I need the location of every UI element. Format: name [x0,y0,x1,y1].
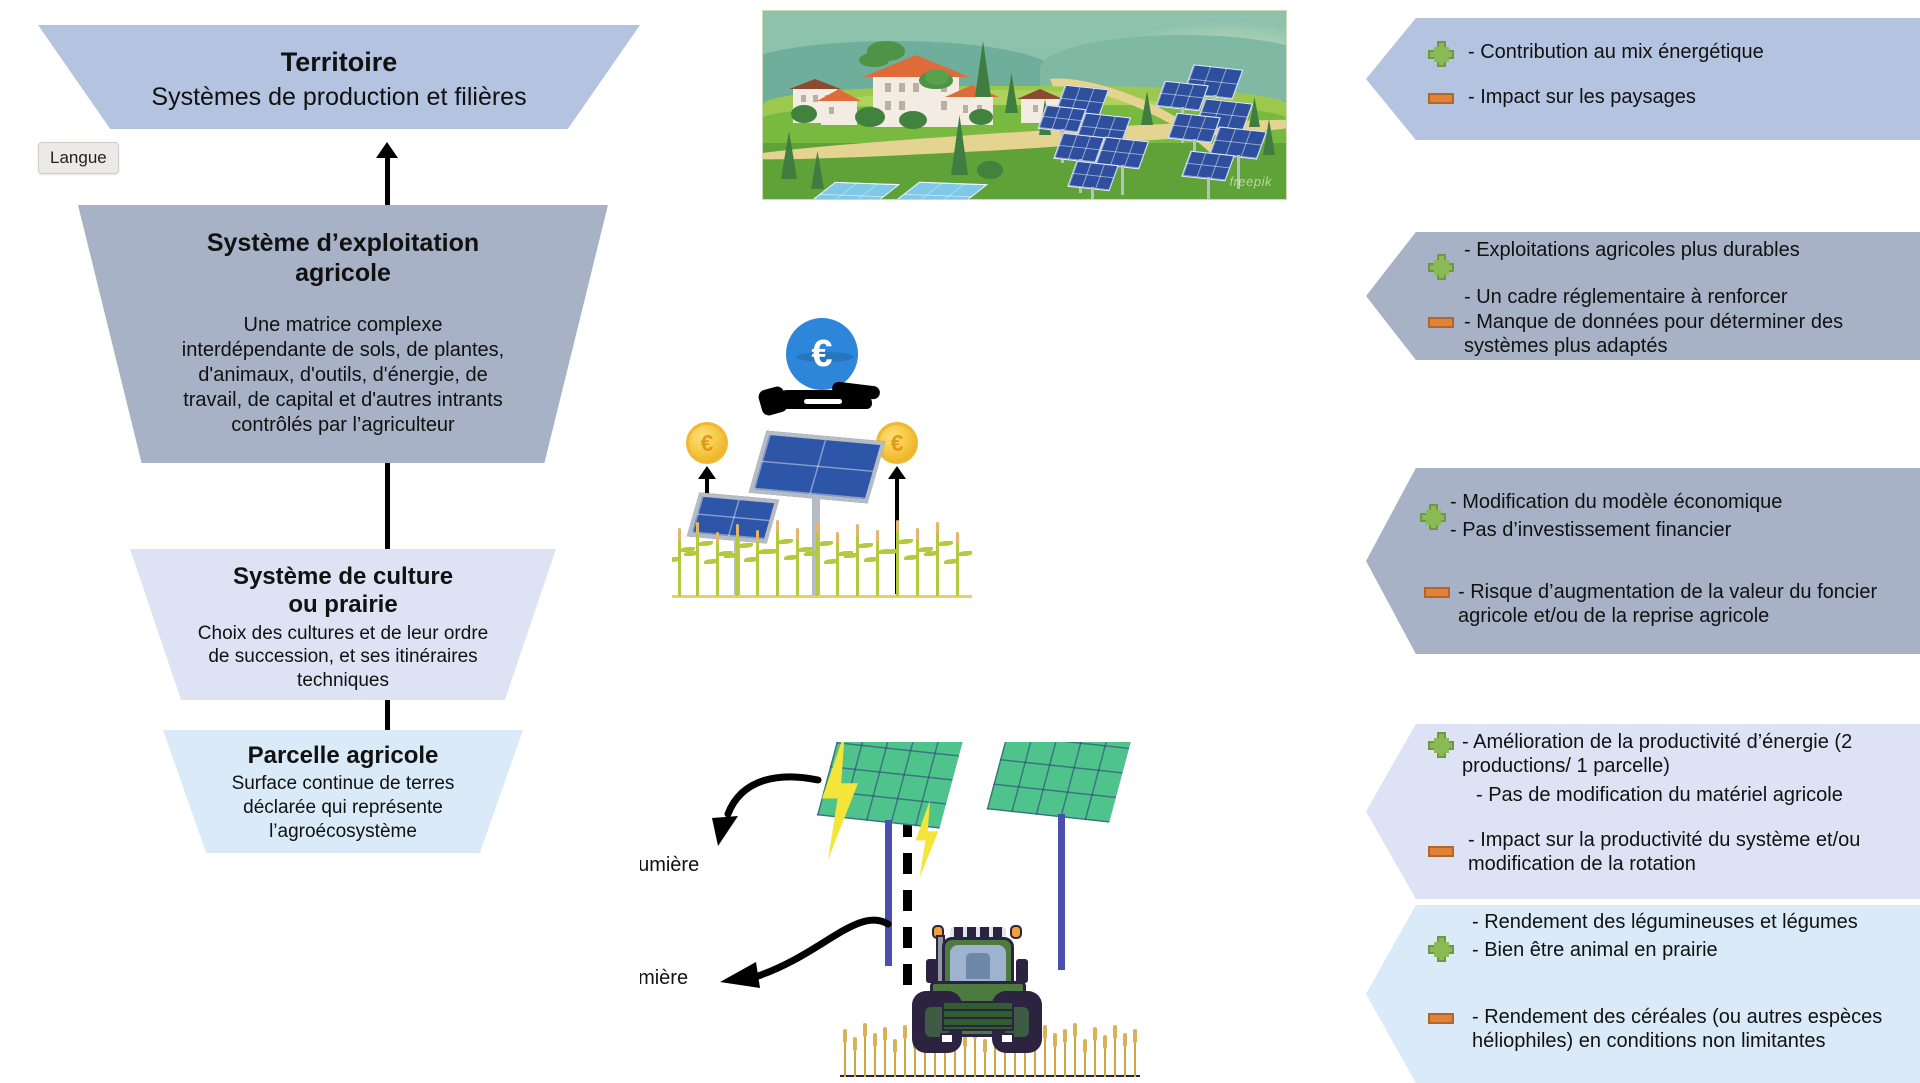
plus-icon [1428,936,1454,962]
euro-coin-gold-left-icon: € [686,422,728,464]
impact-negative-row-2b: - Manque de données pour déterminer des … [1428,310,1920,359]
impact-negative-row-5: - Rendement des céréales (ou autres espè… [1428,1005,1920,1054]
funnel-level-title: Parcelle agricole [248,742,439,770]
impact-negative-row-4: - Impact sur la productivité du système … [1428,828,1920,877]
impact-positive-text: - Amélioration de la productivité d’éner… [1462,730,1902,779]
label-100-percent-light: 100% de la lumière [640,854,699,877]
impact-positive-row-5: - Rendement des légumineuses et légumes … [1428,910,1920,963]
hand-icon [760,380,886,420]
impact-negative-row-1: - Impact sur les paysages [1428,85,1920,109]
maize-field [672,516,972,598]
impact-negative-text: - Un cadre réglementaire à renforcer [1464,285,1787,309]
plus-icon [1428,254,1454,280]
impact-negative-text: - Manque de données pour déterminer des … [1464,310,1920,359]
minus-icon [1428,1013,1454,1024]
impact-positive-row-3: - Modification du modèle économique - Pa… [1420,490,1920,543]
minus-icon [1424,587,1450,598]
plus-icon [1420,504,1446,530]
funnel-level-title: Territoire [281,47,398,79]
impact-positive-row-2: - Exploitations agricoles plus durables [1428,238,1920,280]
euro-solar-maize-illustration: € € € [672,318,972,598]
impact-positive-row-1: - Contribution au mix énergétique [1428,40,1920,67]
impact-positive-text: - Exploitations agricoles plus durables [1464,238,1800,262]
solar-panel-large [749,431,886,504]
impact-negative-text: - Rendement des céréales (ou autres espè… [1472,1005,1892,1054]
funnel-level-territoire: Territoire Systèmes de production et fil… [38,25,640,129]
funnel-level-description: Une matrice complexe interdépendante de … [171,313,515,438]
minus-icon [1428,317,1454,328]
minus-icon [1428,93,1454,104]
impact-positive-text: - Contribution au mix énergétique [1468,40,1764,64]
label-70-percent-light: 70% de la lumière [640,967,688,990]
impact-positive-text: - Modification du modèle économique [1450,490,1782,514]
agrivoltaic-tractor-illustration: 100% de la lumière 70% de la lumière [640,742,1140,1083]
funnel-level-title-line2: agricole [295,259,391,289]
impact-negative-row-2a: - Un cadre réglementaire à renforcer [1464,285,1920,309]
funnel-level-description: Choix des cultures et de leur ordre de s… [193,622,493,693]
plus-icon [1428,41,1454,67]
green-solar-panel-right [987,742,1136,823]
tractor-illustration [908,919,1046,1071]
impact-negative-row-3: - Risque d’augmentation de la valeur du … [1424,580,1920,629]
minus-icon [1428,846,1454,857]
funnel-level-description: Surface continue de terres déclarée qui … [207,772,479,843]
funnel-level-systeme-culture: Système de culture ou prairie Choix des … [130,549,556,700]
rural-landscape-illustration: freepik [762,10,1287,200]
impact-positive-text: - Pas d’investissement financier [1450,518,1782,542]
connector-line-3 [385,700,390,732]
funnel-level-parcelle: Parcelle agricole Surface continue de te… [163,730,523,853]
impact-negative-text: - Impact sur la productivité du système … [1468,828,1908,877]
impact-negative-text: - Risque d’augmentation de la valeur du … [1458,580,1908,629]
funnel-level-subtitle: Systèmes de production et filières [151,82,526,113]
impact-positive-row-4: - Amélioration de la productivité d’éner… [1428,730,1920,807]
green-solar-post-right [1058,814,1065,970]
plus-icon [1428,732,1454,758]
connector-arrowhead-1 [376,142,398,158]
connector-line-2 [385,463,390,553]
impact-negative-text: - Impact sur les paysages [1468,85,1696,109]
funnel-level-title-line2: ou prairie [288,591,397,619]
langue-button[interactable]: Langue [38,142,119,174]
watermark-freepik: freepik [1229,174,1272,189]
impact-positive-text: - Bien être animal en prairie [1472,938,1892,962]
light-arrow-70-percent [640,884,930,1014]
impact-positive-text: - Pas de modification du matériel agrico… [1476,783,1902,807]
funnel-level-title: Système de culture [233,563,453,591]
impact-box-territoire [1366,18,1920,140]
funnel-level-exploitation: Système d’exploitation agricole Une matr… [78,205,608,463]
funnel-level-title: Système d’exploitation [207,229,479,259]
impact-positive-text: - Rendement des légumineuses et légumes [1472,910,1892,934]
